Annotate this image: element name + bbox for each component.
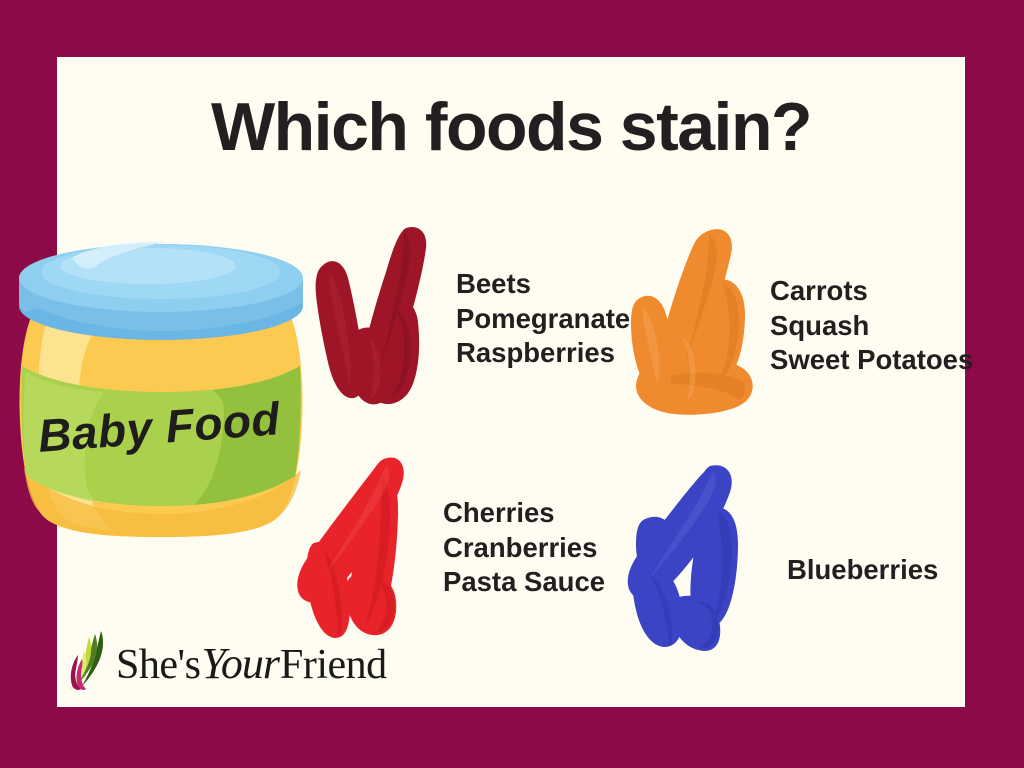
page-title: Which foods stain? (57, 88, 965, 166)
food-item: Raspberries (456, 336, 630, 371)
logo-word-shes: She's (116, 642, 200, 688)
food-item: Carrots (770, 274, 973, 309)
flame-leaf-icon (68, 629, 112, 691)
paint-swatch-orange (613, 224, 758, 420)
brand-logo-text: She'sYourFriend (116, 638, 387, 689)
logo-word-friend: Friend (280, 642, 387, 688)
food-item: Cherries (443, 496, 605, 531)
food-item: Cranberries (443, 531, 605, 566)
food-list-dark-red: Beets Pomegranate Raspberries (456, 267, 630, 372)
paint-swatch-dark-red (300, 222, 440, 412)
food-group-red: Cherries Cranberries Pasta Sauce (278, 447, 605, 643)
food-item: Blueberries (787, 553, 938, 588)
food-list-blue: Blueberries (787, 553, 938, 588)
paint-swatch-red (278, 447, 423, 643)
baby-food-jar-illustration (16, 232, 306, 538)
paint-swatch-blue (618, 458, 763, 654)
food-item: Beets (456, 267, 630, 302)
food-item: Pasta Sauce (443, 565, 605, 600)
food-list-red: Cherries Cranberries Pasta Sauce (443, 496, 605, 601)
food-group-orange: Carrots Squash Sweet Potatoes (613, 224, 973, 420)
food-list-orange: Carrots Squash Sweet Potatoes (770, 274, 973, 379)
logo-word-your: Your (200, 639, 280, 688)
food-item: Pomegranate (456, 302, 630, 337)
brand-logo: She'sYourFriend (68, 627, 387, 691)
food-item: Squash (770, 309, 973, 344)
infographic-canvas: Which foods stain? Baby Food (0, 0, 1024, 768)
food-item: Sweet Potatoes (770, 343, 973, 378)
food-group-dark-red: Beets Pomegranate Raspberries (300, 222, 630, 412)
food-group-blue: Blueberries (618, 458, 938, 654)
